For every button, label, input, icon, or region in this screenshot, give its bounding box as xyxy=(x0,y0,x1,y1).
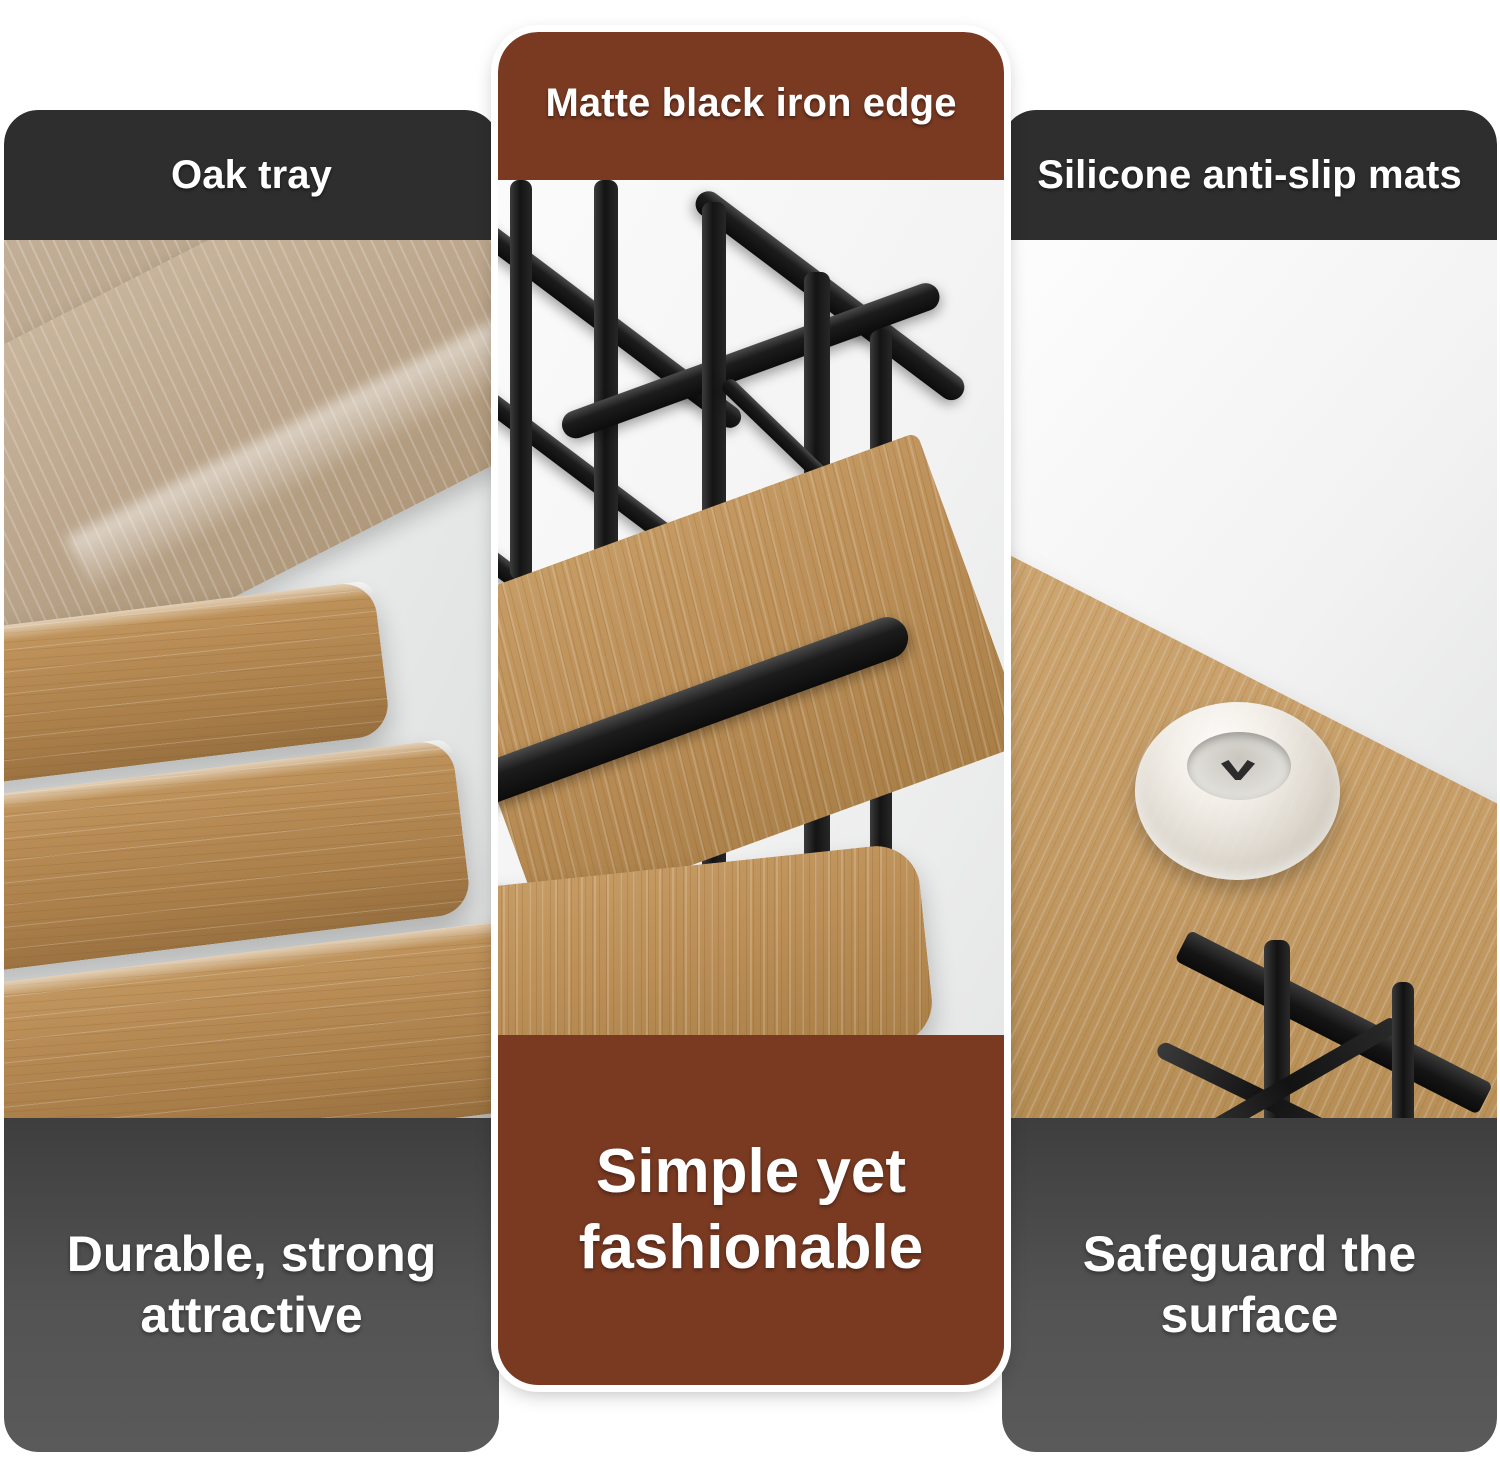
metal-leg-rear xyxy=(1392,982,1414,1118)
caption-label: Safeguard the surface xyxy=(1083,1224,1416,1346)
caption-line-2: surface xyxy=(1161,1287,1339,1343)
header-label: Oak tray xyxy=(171,153,332,198)
header-iron-edge: Matte black iron edge xyxy=(498,32,1004,180)
photo-silicone-mats xyxy=(1002,240,1497,1118)
caption-line-2: attractive xyxy=(140,1287,362,1343)
header-oak-tray: Oak tray xyxy=(4,110,499,240)
header-label: Matte black iron edge xyxy=(545,81,956,126)
caption-silicone-mats: Safeguard the surface xyxy=(1002,1118,1497,1452)
caption-line-2: fashionable xyxy=(579,1213,924,1282)
caption-iron-edge: Simple yet fashionable xyxy=(498,1035,1004,1385)
bumper-recess xyxy=(1187,732,1291,800)
infographic-stage: Oak tray Durable, strong attractive xyxy=(0,0,1500,1462)
caption-line-1: Safeguard the xyxy=(1083,1226,1416,1282)
photo-iron-edge xyxy=(498,180,1004,1035)
panel-silicone-mats: Silicone anti-slip mats Safeguard the su… xyxy=(1002,110,1497,1452)
panel-iron-edge: Matte black iron edge Simple yet fashion… xyxy=(498,32,1004,1385)
header-label: Silicone anti-slip mats xyxy=(1037,153,1462,198)
panel-oak-tray: Oak tray Durable, strong attractive xyxy=(4,110,499,1452)
caption-label: Simple yet fashionable xyxy=(579,1134,924,1285)
iron-post-rear-left xyxy=(510,180,532,580)
caption-line-1: Durable, strong xyxy=(67,1226,436,1282)
header-silicone-mats: Silicone anti-slip mats xyxy=(1002,110,1497,240)
caption-line-1: Simple yet xyxy=(596,1137,906,1206)
silicone-bumper-foot xyxy=(1135,702,1340,880)
photo-oak-tray xyxy=(4,240,499,1118)
caption-oak-tray: Durable, strong attractive xyxy=(4,1118,499,1452)
caption-label: Durable, strong attractive xyxy=(67,1224,436,1346)
